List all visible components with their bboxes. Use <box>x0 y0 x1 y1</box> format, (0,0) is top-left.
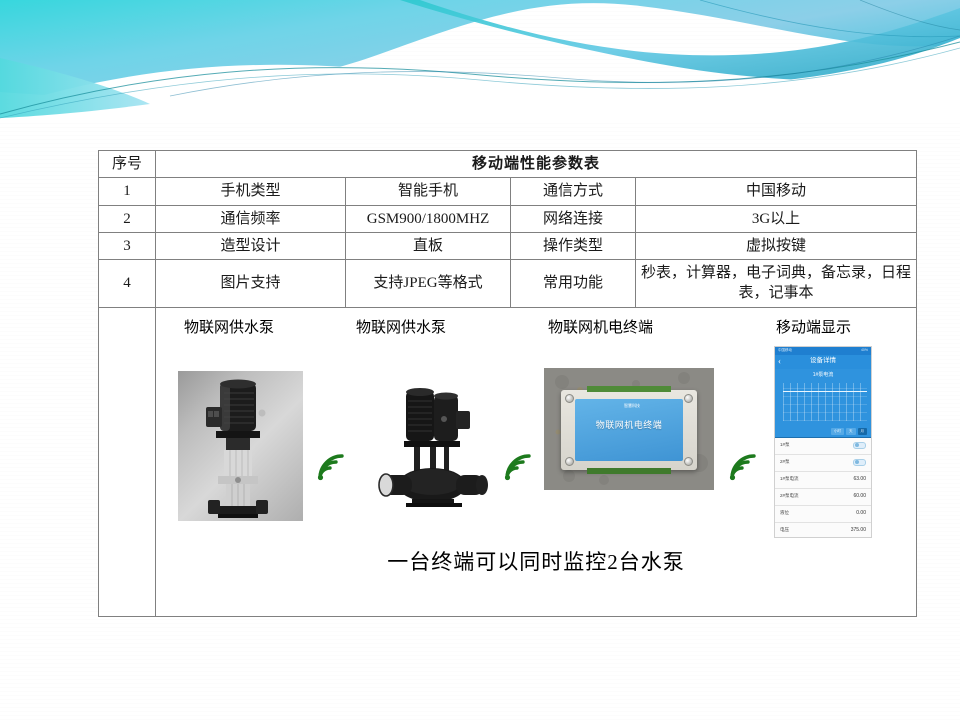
row-value-1: GSM900/1800MHZ <box>346 205 511 232</box>
terminal-terminal-block-top <box>587 386 671 392</box>
terminal-plate-label: 物联网机电终端 <box>575 419 683 431</box>
table-row: 1 手机类型 智能手机 通信方式 中国移动 <box>99 178 917 205</box>
screw-icon <box>684 457 693 466</box>
terminal-enclosure: 智慧科技 物联网机电终端 <box>561 390 697 470</box>
table-row: 3 造型设计 直板 操作类型 虚拟按键 <box>99 232 917 259</box>
mobile-app-screenshot: 中国移动 40% ‹ 设备详情 1#泵电流 小时 <box>774 346 872 538</box>
diagram-caption: 一台终端可以同时监控2台水泵 <box>156 548 916 576</box>
phone-current-chart: 1#泵电流 小时 天 月 <box>775 369 871 438</box>
phone-reading-row: 液位 0.00 <box>775 506 871 523</box>
diagram-row: 物联网供水泵 物联网供水泵 物联网机电终端 移动端显示 <box>99 307 917 616</box>
screw-icon <box>684 394 693 403</box>
table-row: 4 图片支持 支持JPEG等格式 常用功能 秒表，计算器，电子词典，备忘录，日程… <box>99 260 917 308</box>
pump-2-toggle-switch[interactable] <box>853 459 866 466</box>
row-index: 4 <box>99 260 156 308</box>
row-value-2: 秒表，计算器，电子词典，备忘录，日程表，记事本 <box>636 260 917 308</box>
phone-reading-row: 1#泵电流 63.00 <box>775 472 871 489</box>
reading-value: 63.00 <box>853 476 866 483</box>
chart-range-month[interactable]: 月 <box>858 428 868 435</box>
table-header-row: 序号 移动端性能参数表 <box>99 151 917 178</box>
row-key-2: 通信方式 <box>511 178 636 205</box>
row-key-2: 网络连接 <box>511 205 636 232</box>
reading-label: 液位 <box>780 510 789 516</box>
reading-value: 60.00 <box>853 493 866 500</box>
row-key-1: 通信频率 <box>156 205 346 232</box>
row-index: 1 <box>99 178 156 205</box>
screw-icon <box>565 394 574 403</box>
row-index: 3 <box>99 232 156 259</box>
phone-reading-row: 2#泵电流 60.00 <box>775 489 871 506</box>
pump-2-photo <box>368 371 498 521</box>
wifi-signal-icon <box>501 450 535 484</box>
wave-banner <box>0 0 960 120</box>
chart-range-hour[interactable]: 小时 <box>831 428 844 435</box>
row-value-2: 虚拟按键 <box>636 232 917 259</box>
reading-label: 1#泵电流 <box>780 476 799 482</box>
row-key-1: 造型设计 <box>156 232 346 259</box>
row-key-2: 常用功能 <box>511 260 636 308</box>
phone-nav-title: 设备详情 <box>775 357 871 366</box>
pump-1-toggle-switch[interactable] <box>853 442 866 449</box>
terminal-logo-text: 智慧科技 <box>575 399 683 408</box>
iot-terminal-photo: 智慧科技 物联网机电终端 <box>544 368 714 490</box>
toggle-label: 1#泵 <box>780 442 790 448</box>
row-value-2: 中国移动 <box>636 178 917 205</box>
terminal-label-plate: 智慧科技 物联网机电终端 <box>575 399 683 461</box>
label-mobile-display: 移动端显示 <box>776 318 851 338</box>
phone-toggle-row[interactable]: 2#泵 <box>775 455 871 472</box>
phone-reading-row: 电压 375.00 <box>775 523 871 538</box>
phone-chart-range-buttons: 小时 天 月 <box>781 428 867 435</box>
diagram-cell: 物联网供水泵 物联网供水泵 物联网机电终端 移动端显示 <box>156 307 917 616</box>
reading-label: 电压 <box>780 527 789 533</box>
row-key-1: 图片支持 <box>156 260 346 308</box>
screw-icon <box>565 457 574 466</box>
row-value-1: 支持JPEG等格式 <box>346 260 511 308</box>
phone-nav-bar: ‹ 设备详情 <box>775 355 871 369</box>
pump-1-photo <box>178 371 303 521</box>
toggle-label: 2#泵 <box>780 459 790 465</box>
row-key-2: 操作类型 <box>511 232 636 259</box>
label-pump-1: 物联网供水泵 <box>184 318 274 338</box>
phone-chart-grid <box>783 383 867 421</box>
row-value-2: 3G以上 <box>636 205 917 232</box>
label-terminal: 物联网机电终端 <box>548 318 653 338</box>
mobile-parameter-table: 序号 移动端性能参数表 1 手机类型 智能手机 通信方式 中国移动 2 通信频率… <box>98 150 917 617</box>
phone-chart-series-line <box>783 391 867 392</box>
row-value-1: 智能手机 <box>346 178 511 205</box>
label-pump-2: 物联网供水泵 <box>356 318 446 338</box>
row-value-1: 直板 <box>346 232 511 259</box>
row-key-1: 手机类型 <box>156 178 346 205</box>
reading-value: 0.00 <box>856 510 866 517</box>
row-index: 2 <box>99 205 156 232</box>
phone-status-bar: 中国移动 40% <box>775 347 871 355</box>
wifi-signal-icon <box>314 450 348 484</box>
status-battery: 40% <box>861 348 868 353</box>
phone-toggle-row[interactable]: 1#泵 <box>775 438 871 455</box>
iot-system-diagram: 物联网供水泵 物联网供水泵 物联网机电终端 移动端显示 <box>156 308 916 616</box>
table-row: 2 通信频率 GSM900/1800MHZ 网络连接 3G以上 <box>99 205 917 232</box>
index-header-cell: 序号 <box>99 151 156 178</box>
status-carrier: 中国移动 <box>778 348 792 353</box>
table-title-cell: 移动端性能参数表 <box>156 151 917 178</box>
phone-chart-title: 1#泵电流 <box>775 369 871 379</box>
wifi-signal-icon <box>726 450 760 484</box>
reading-value: 375.00 <box>851 527 866 534</box>
chart-range-day[interactable]: 天 <box>846 428 856 435</box>
reading-label: 2#泵电流 <box>780 493 799 499</box>
diagram-index-cell <box>99 307 156 616</box>
terminal-terminal-block-bottom <box>587 468 671 474</box>
